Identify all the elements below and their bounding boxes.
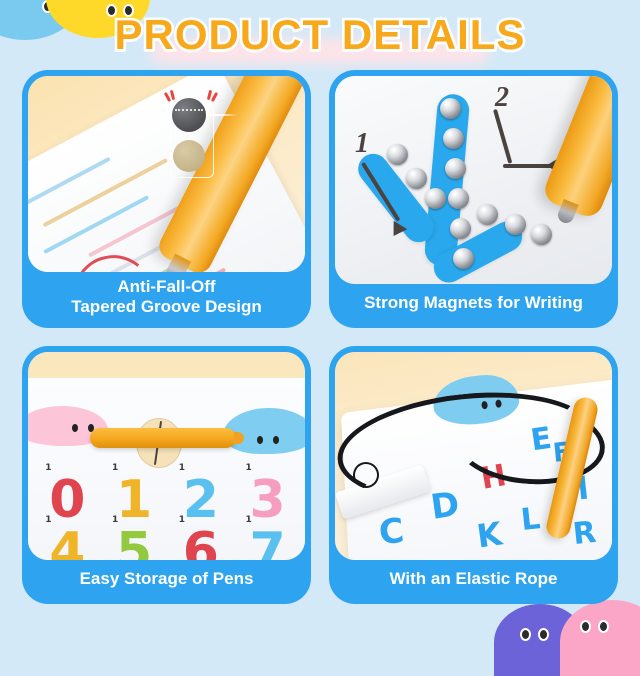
digit-7: 17 bbox=[250, 526, 286, 560]
panel-strong-magnets[interactable]: 1 2 Strong Magnets for Writing bbox=[331, 72, 616, 326]
digit-0: 10 bbox=[49, 474, 85, 526]
caption-line-2: Tapered Groove Design bbox=[71, 297, 262, 316]
pink-blob-decoration bbox=[560, 600, 640, 676]
blue-cloud-decoration bbox=[223, 408, 305, 454]
letter-track-stem bbox=[424, 93, 471, 267]
panel-caption-strong-magnets: Strong Magnets for Writing bbox=[331, 280, 616, 326]
letter-K: K bbox=[474, 514, 504, 555]
digit-1: 11 bbox=[116, 474, 152, 526]
digit-2: 12 bbox=[183, 474, 219, 526]
groove-ball-icon bbox=[173, 140, 205, 172]
panel-caption-anti-fall-off: Anti-Fall-Off Tapered Groove Design bbox=[24, 268, 309, 326]
panel-photo-anti-fall-off bbox=[28, 76, 305, 272]
panel-photo-easy-storage: 10 11 12 13 14 15 16 17 bbox=[28, 352, 305, 560]
digit-4: 14 bbox=[49, 526, 85, 560]
panel-caption-elastic-rope: With an Elastic Rope bbox=[331, 556, 616, 602]
digit-row-group: 10 11 12 13 14 15 16 17 bbox=[34, 474, 301, 560]
panel-anti-fall-off[interactable]: Anti-Fall-Off Tapered Groove Design bbox=[24, 72, 309, 326]
page-header: PRODUCT DETAILS bbox=[0, 8, 640, 62]
caption-line-1: Anti-Fall-Off bbox=[117, 277, 215, 296]
digit-5: 15 bbox=[116, 526, 152, 560]
letter-R: R bbox=[571, 515, 598, 552]
digit-6: 16 bbox=[183, 526, 219, 560]
number-board: 10 11 12 13 14 15 16 17 bbox=[28, 378, 305, 560]
stored-stylus-pen bbox=[90, 428, 236, 448]
panel-grid: Anti-Fall-Off Tapered Groove Design bbox=[24, 72, 616, 608]
stroke-number-2: 2 bbox=[495, 82, 509, 114]
product-details-page: PRODUCT DETAILS bbox=[0, 0, 640, 640]
blob-eye bbox=[540, 630, 547, 639]
stroke-arrow-1 bbox=[357, 162, 417, 248]
panel-photo-strong-magnets: 1 2 bbox=[335, 76, 612, 284]
blob-eye bbox=[522, 630, 529, 639]
magnet-ball-icon bbox=[172, 98, 206, 132]
digit-3: 13 bbox=[250, 474, 286, 526]
panel-caption-easy-storage: Easy Storage of Pens bbox=[24, 556, 309, 602]
panel-elastic-rope[interactable]: E F H D M C K L R With an Elastic Rope bbox=[331, 348, 616, 602]
panel-photo-elastic-rope: E F H D M C K L R bbox=[335, 352, 612, 560]
blob-eye bbox=[600, 622, 607, 631]
letter-C: C bbox=[377, 511, 406, 553]
letter-L: L bbox=[519, 501, 542, 538]
groove-diagram bbox=[142, 90, 238, 178]
page-title: PRODUCT DETAILS bbox=[0, 8, 640, 62]
panel-easy-storage[interactable]: 10 11 12 13 14 15 16 17 Easy Storage of … bbox=[24, 348, 309, 602]
stroke-number-1: 1 bbox=[355, 128, 369, 160]
blob-eye bbox=[582, 622, 589, 631]
